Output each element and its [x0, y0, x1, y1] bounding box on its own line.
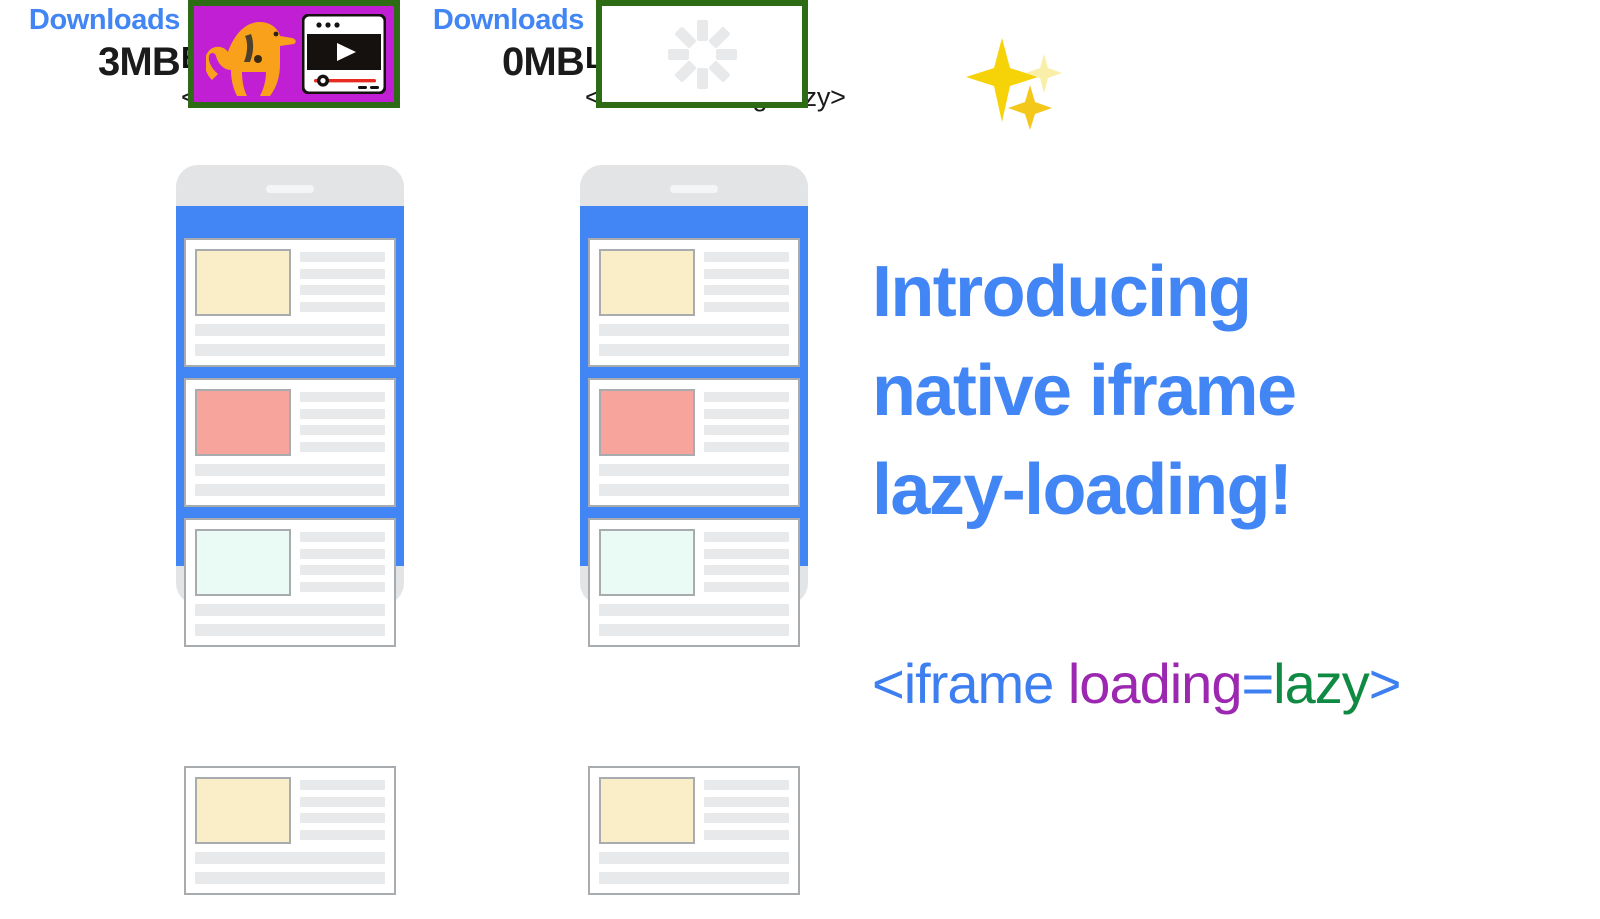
ad-slot-spacer — [588, 658, 800, 766]
text-line — [300, 830, 385, 840]
article-thumbnail — [599, 249, 695, 316]
text-line — [599, 344, 789, 356]
text-line — [300, 532, 385, 542]
code-token-value: lazy — [1273, 652, 1369, 715]
text-line — [599, 604, 789, 616]
text-line — [300, 425, 385, 435]
text-line — [704, 269, 789, 279]
sparkles-icon — [960, 30, 1070, 130]
ad-creative-background — [194, 6, 394, 102]
text-line — [599, 624, 789, 636]
article-text-lines — [300, 249, 385, 316]
spinner-segment — [674, 26, 697, 49]
text-line — [704, 565, 789, 575]
article-card[interactable] — [184, 518, 396, 647]
article-card[interactable] — [588, 518, 800, 647]
article-thumbnail — [599, 777, 695, 844]
text-line — [704, 409, 789, 419]
code-token-equals: = — [1241, 652, 1273, 715]
code-token-tag-close: > — [1369, 652, 1401, 715]
article-feed-lazy — [588, 238, 800, 906]
code-token-tag-open: <iframe — [872, 652, 1053, 715]
article-thumbnail — [195, 389, 291, 456]
text-line — [300, 252, 385, 262]
article-body-lines — [599, 324, 789, 356]
downloads-value: 3MB — [4, 38, 180, 86]
text-line — [300, 409, 385, 419]
article-body-lines — [599, 852, 789, 884]
text-line — [300, 302, 385, 312]
article-text-lines — [704, 529, 789, 596]
article-card[interactable] — [588, 766, 800, 895]
article-body-lines — [195, 852, 385, 884]
text-line — [195, 464, 385, 476]
article-card[interactable] — [588, 238, 800, 367]
spinner-segment — [708, 26, 731, 49]
text-line — [704, 780, 789, 790]
loading-spinner-icon — [665, 17, 739, 91]
text-line — [195, 624, 385, 636]
article-feed-eager — [184, 238, 396, 906]
spinner-segment — [674, 60, 697, 83]
spinner-segment — [697, 68, 708, 89]
text-line — [704, 830, 789, 840]
article-thumbnail — [599, 389, 695, 456]
text-line — [599, 324, 789, 336]
article-text-lines — [704, 389, 789, 456]
downloads-metric-eager: Downloads 3MB — [4, 2, 180, 86]
text-line — [300, 780, 385, 790]
dog-illustration-icon — [206, 12, 302, 100]
text-line — [599, 484, 789, 496]
text-line — [195, 344, 385, 356]
article-body-lines — [195, 464, 385, 496]
article-thumbnail — [195, 249, 291, 316]
text-line — [300, 813, 385, 823]
article-text-lines — [704, 777, 789, 844]
article-body-lines — [599, 604, 789, 636]
iframe-ad-placeholder[interactable] — [596, 0, 808, 108]
iframe-ad-loaded[interactable] — [188, 0, 400, 108]
headline-line-3: lazy-loading! — [872, 441, 1512, 540]
article-card[interactable] — [184, 238, 396, 367]
text-line — [599, 464, 789, 476]
article-text-lines — [300, 777, 385, 844]
article-thumbnail — [599, 529, 695, 596]
page-headline: Introducing native iframe lazy-loading! — [872, 243, 1512, 540]
text-line — [704, 797, 789, 807]
text-line — [704, 582, 789, 592]
phone-speaker-grille — [266, 185, 314, 193]
text-line — [704, 252, 789, 262]
spinner-segment — [697, 20, 708, 41]
text-line — [195, 604, 385, 616]
text-line — [704, 442, 789, 452]
article-body-lines — [195, 324, 385, 356]
headline-line-2: native iframe — [872, 342, 1512, 441]
article-body-lines — [195, 604, 385, 636]
text-line — [704, 285, 789, 295]
headline-line-1: Introducing — [872, 243, 1512, 342]
spinner-segment — [716, 49, 737, 60]
text-line — [300, 285, 385, 295]
downloads-label: Downloads — [4, 2, 180, 38]
text-line — [599, 872, 789, 884]
text-line — [704, 392, 789, 402]
code-token-attribute: loading — [1053, 652, 1241, 715]
ad-slot-spacer — [184, 658, 396, 766]
downloads-label: Downloads — [408, 2, 584, 38]
downloads-value: 0MB — [408, 38, 584, 86]
text-line — [195, 484, 385, 496]
video-player-icon — [302, 14, 386, 94]
text-line — [195, 852, 385, 864]
phone-speaker-grille — [670, 185, 718, 193]
text-line — [599, 852, 789, 864]
article-card[interactable] — [184, 766, 396, 895]
text-line — [704, 813, 789, 823]
text-line — [704, 532, 789, 542]
text-line — [300, 442, 385, 452]
article-card[interactable] — [588, 378, 800, 507]
text-line — [300, 549, 385, 559]
spinner-segment — [708, 60, 731, 83]
article-card[interactable] — [184, 378, 396, 507]
article-body-lines — [599, 464, 789, 496]
text-line — [300, 392, 385, 402]
text-line — [704, 549, 789, 559]
downloads-metric-lazy: Downloads 0MB — [408, 2, 584, 86]
article-text-lines — [300, 529, 385, 596]
code-snippet: <iframe loading=lazy> — [872, 648, 1400, 720]
text-line — [704, 425, 789, 435]
text-line — [300, 582, 385, 592]
article-text-lines — [300, 389, 385, 456]
article-thumbnail — [195, 529, 291, 596]
spinner-segment — [668, 49, 689, 60]
text-line — [704, 302, 789, 312]
text-line — [195, 324, 385, 336]
text-line — [300, 797, 385, 807]
article-text-lines — [704, 249, 789, 316]
article-thumbnail — [195, 777, 291, 844]
text-line — [300, 269, 385, 279]
text-line — [195, 872, 385, 884]
text-line — [300, 565, 385, 575]
